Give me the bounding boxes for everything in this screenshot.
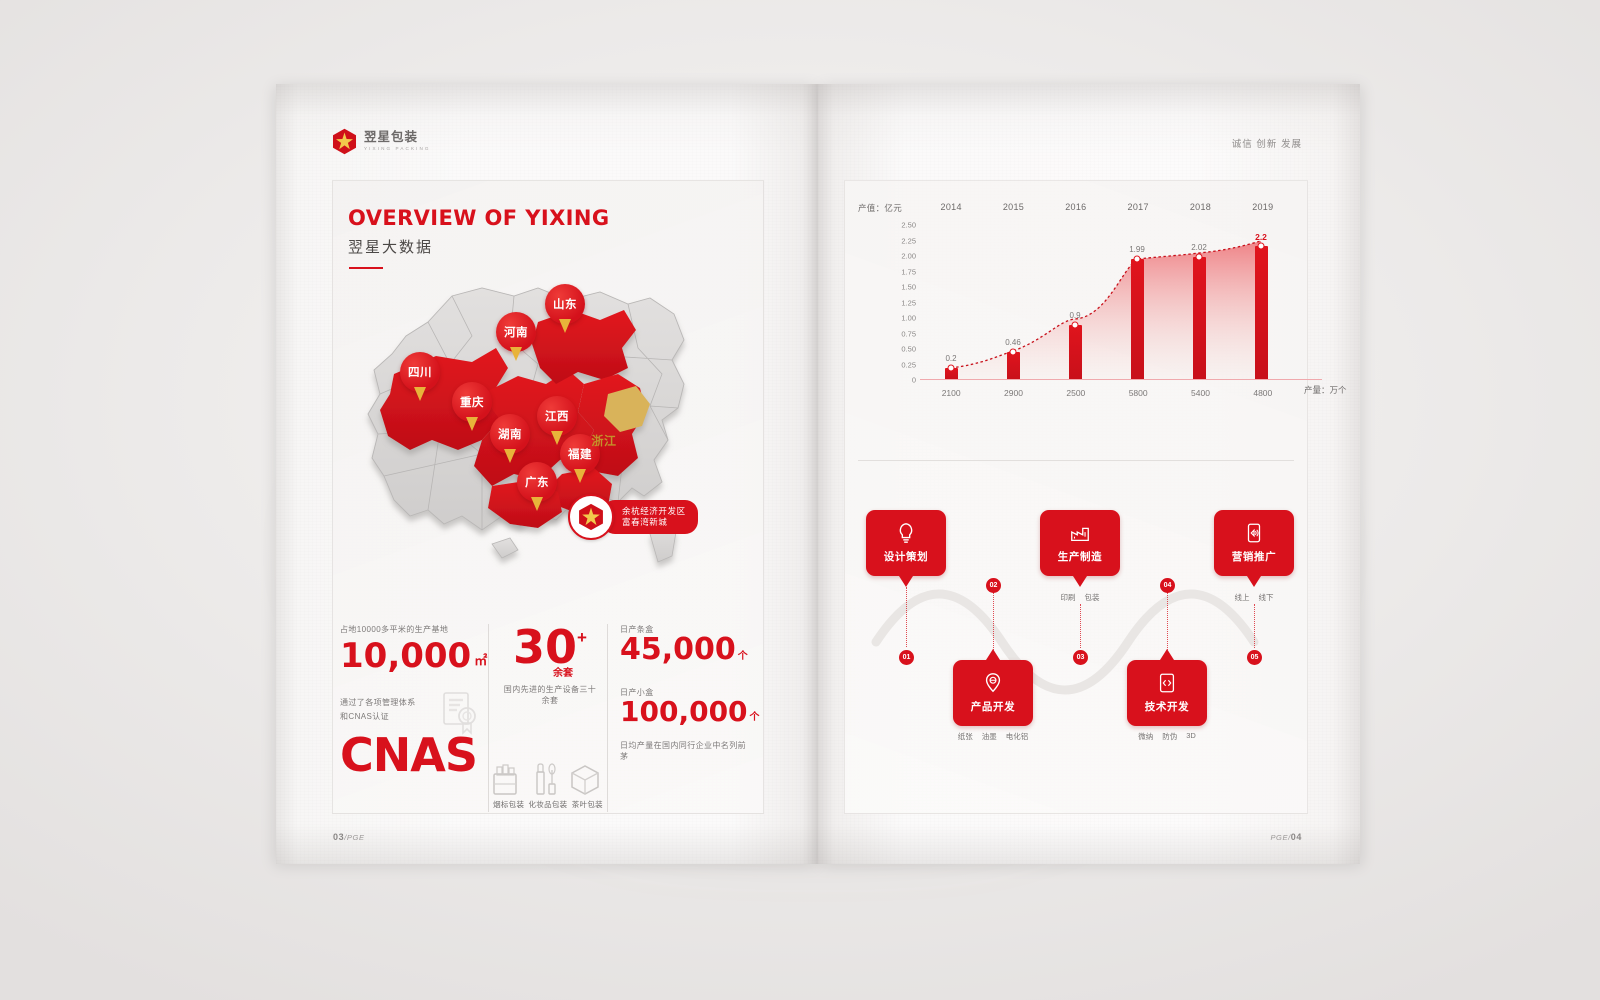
substep-label: 3D bbox=[1186, 731, 1196, 742]
map-marker-shandong[interactable]: 山东 bbox=[545, 284, 585, 333]
chart-value-label: 1.99 bbox=[1129, 245, 1145, 254]
chart-year-tick: 2015 bbox=[982, 202, 1044, 212]
process-substeps: 印刷 包装 bbox=[1040, 592, 1120, 603]
product-cosmetics: 化妆品包装 bbox=[528, 762, 567, 810]
chart-value-label-highlight: 2.2 bbox=[1255, 232, 1267, 242]
chart-bar bbox=[1193, 257, 1206, 380]
process-step-design[interactable]: 设计策划 bbox=[866, 510, 946, 576]
y-tick: 0.50 bbox=[901, 345, 916, 354]
hq-callout[interactable]: 余杭经济开发区 富春湾新城 bbox=[568, 494, 698, 540]
map-marker-label: 湖南 bbox=[490, 414, 530, 454]
page-number-value: 04 bbox=[1291, 832, 1302, 842]
chart-point bbox=[1134, 256, 1141, 263]
carton-value: 45,000 bbox=[620, 635, 736, 665]
spread: 翌星包装 YIXING PACKING OVERVIEW OF YIXING 翌… bbox=[276, 84, 1360, 864]
chart-ylabel: 产值：亿元 bbox=[858, 202, 902, 214]
target-pin-icon bbox=[982, 672, 1004, 694]
y-tick: 1.50 bbox=[901, 283, 916, 292]
product-tea-box: 茶叶包装 bbox=[568, 762, 607, 810]
y-tick: 2.50 bbox=[901, 221, 916, 230]
stat-column-area: 占地10000多平米的生产基地 10,000 ㎡ 通过了各项管理体系 和CNAS… bbox=[332, 624, 488, 812]
process-connector bbox=[1080, 604, 1081, 648]
map-marker-zhejiang[interactable]: 浙江 bbox=[584, 420, 624, 469]
map-marker-hunan[interactable]: 湖南 bbox=[490, 414, 530, 463]
output-footnote: 日均产量在国内同行企业中名列前茅 bbox=[620, 740, 754, 762]
process-pointer bbox=[986, 649, 1000, 660]
marker-pin-icon bbox=[466, 417, 478, 431]
map-marker-label: 河南 bbox=[496, 312, 536, 352]
certificate-icon bbox=[440, 691, 480, 735]
y-tick: 0.25 bbox=[901, 361, 916, 370]
process-substeps: 纸张 油墨 电化铝 bbox=[953, 731, 1033, 742]
process-badge-01: 01 bbox=[899, 650, 914, 665]
page-bottom-shading bbox=[276, 824, 818, 864]
chart-output-tick: 2100 bbox=[920, 388, 982, 398]
area-unit: ㎡ bbox=[474, 650, 487, 669]
hq-line-2: 富春湾新城 bbox=[622, 517, 686, 528]
process-step-title: 营销推广 bbox=[1232, 549, 1276, 564]
chart-area-fill bbox=[951, 241, 1261, 380]
process-connector bbox=[906, 587, 907, 647]
chart-year-tick: 2017 bbox=[1107, 202, 1169, 212]
page-number-value: 03 bbox=[333, 832, 344, 842]
y-tick: 1.00 bbox=[901, 314, 916, 323]
marker-pin-icon bbox=[531, 497, 543, 511]
map-marker-label: 重庆 bbox=[452, 382, 492, 422]
process-step-manufacturing[interactable]: 生产制造 印刷 包装 bbox=[1040, 510, 1120, 603]
hq-callout-text: 余杭经济开发区 富春湾新城 bbox=[602, 500, 698, 535]
chart-year-row: 2014 2015 2016 2017 2018 2019 bbox=[920, 202, 1294, 212]
chart-bar bbox=[1007, 352, 1020, 380]
hq-line-1: 余杭经济开发区 bbox=[622, 506, 686, 517]
process-pointer bbox=[1073, 576, 1087, 587]
page-title-en: OVERVIEW OF YIXING bbox=[348, 206, 610, 230]
cnas-logo: CNAS bbox=[340, 732, 480, 778]
chart-y-axis: 0 0.25 0.50 0.75 1.00 1.25 1.50 1.75 2.0… bbox=[872, 222, 916, 380]
marker-pin-icon bbox=[574, 469, 586, 483]
chart-value-label: 0.2 bbox=[945, 354, 956, 363]
chart-value-label: 0.46 bbox=[1005, 338, 1021, 347]
box-value: 100,000 bbox=[620, 698, 748, 726]
map-marker-guangdong[interactable]: 广东 bbox=[517, 462, 557, 511]
equipment-caption: 国内先进的生产设备三十余套 bbox=[501, 684, 599, 706]
y-tick: 0.75 bbox=[901, 330, 916, 339]
chart-year-tick: 2018 bbox=[1169, 202, 1231, 212]
process-connector bbox=[993, 592, 994, 650]
chart-point bbox=[948, 365, 955, 372]
brand-name-en: YIXING PACKING bbox=[364, 147, 431, 152]
brand-text: 翌星包装 YIXING PACKING bbox=[364, 131, 431, 151]
chart-point bbox=[1196, 254, 1203, 261]
y-tick: 2.00 bbox=[901, 252, 916, 261]
map-marker-label: 浙江 bbox=[584, 420, 624, 460]
process-badge-05: 05 bbox=[1247, 650, 1262, 665]
chart-output-tick: 2500 bbox=[1045, 388, 1107, 398]
chart-output-tick: 5800 bbox=[1107, 388, 1169, 398]
substep-label: 线下 bbox=[1259, 592, 1274, 603]
product-label: 烟标包装 bbox=[489, 799, 528, 810]
substep-label: 线上 bbox=[1235, 592, 1250, 603]
chart-x-axis: 2100 2900 2500 5800 5400 4800 bbox=[920, 388, 1294, 398]
y-tick: 1.25 bbox=[901, 299, 916, 308]
revenue-output-chart: 产值：亿元 2014 2015 2016 2017 2018 2019 0 0.… bbox=[858, 202, 1294, 418]
equipment-plus: + bbox=[577, 628, 587, 648]
map-marker-label: 江西 bbox=[537, 396, 577, 436]
process-card: 产品开发 bbox=[953, 660, 1033, 726]
brand-logo: 翌星包装 YIXING PACKING bbox=[332, 128, 431, 155]
stat-column-output: 日产条盒 45,000 个 日产小盒 100,000 个 日均产量在国内同行企业… bbox=[607, 624, 762, 812]
chart-output-tick: 5400 bbox=[1169, 388, 1231, 398]
y-tick: 2.25 bbox=[901, 237, 916, 246]
china-map: 四川 重庆 河南 山东 湖南 bbox=[332, 244, 762, 614]
substep-label: 纸张 bbox=[958, 731, 973, 742]
process-badge-02: 02 bbox=[986, 578, 1001, 593]
chart-year-tick: 2014 bbox=[920, 202, 982, 212]
marker-pin-icon bbox=[414, 387, 426, 401]
map-marker-chongqing[interactable]: 重庆 bbox=[452, 382, 492, 431]
map-marker-sichuan[interactable]: 四川 bbox=[400, 352, 440, 401]
chart-bar bbox=[1131, 259, 1144, 380]
y-tick: 0 bbox=[912, 376, 916, 385]
brand-slogan: 诚信 创新 发展 bbox=[1232, 136, 1302, 150]
factory-icon bbox=[1069, 522, 1091, 544]
process-pointer bbox=[899, 576, 913, 587]
y-tick: 1.75 bbox=[901, 268, 916, 277]
process-pointer bbox=[1247, 576, 1261, 587]
chart-point bbox=[1258, 243, 1265, 250]
chart-value-label: 0.9 bbox=[1069, 311, 1080, 320]
chart-output-tick: 2900 bbox=[982, 388, 1044, 398]
chart-baseline bbox=[920, 379, 1322, 380]
substep-label: 微纳 bbox=[1138, 731, 1153, 742]
tea-box-icon bbox=[568, 762, 602, 796]
chart-value-label: 2.02 bbox=[1191, 243, 1207, 252]
map-marker-label: 四川 bbox=[400, 352, 440, 392]
process-connector bbox=[1254, 604, 1255, 648]
chart-bar bbox=[1255, 246, 1268, 380]
lightbulb-icon bbox=[895, 522, 917, 544]
marker-pin-icon bbox=[510, 347, 522, 361]
map-marker-label: 山东 bbox=[545, 284, 585, 324]
process-card: 生产制造 bbox=[1040, 510, 1120, 576]
stats-strip: 占地10000多平米的生产基地 10,000 ㎡ 通过了各项管理体系 和CNAS… bbox=[332, 624, 762, 812]
product-label: 化妆品包装 bbox=[528, 799, 567, 810]
process-connector bbox=[1167, 592, 1168, 650]
right-page: 诚信 创新 发展 产值：亿元 2014 2015 2016 2017 2018 … bbox=[818, 84, 1360, 864]
code-document-icon bbox=[1156, 672, 1178, 694]
process-step-tech-dev[interactable]: 技术开发 微纳 防伪 3D bbox=[1127, 660, 1207, 742]
yixing-hexagon-star-icon bbox=[332, 128, 357, 155]
lipstick-icon bbox=[528, 762, 560, 796]
process-step-title: 生产制造 bbox=[1058, 549, 1102, 564]
substep-label: 印刷 bbox=[1061, 592, 1076, 603]
chart-output-tick: 4800 bbox=[1232, 388, 1294, 398]
process-substeps: 微纳 防伪 3D bbox=[1127, 731, 1207, 742]
process-step-title: 技术开发 bbox=[1145, 699, 1189, 714]
page-number-right: PGE/04 bbox=[1270, 832, 1302, 842]
page-number-left: 03/PGE bbox=[333, 832, 365, 842]
process-step-title: 产品开发 bbox=[971, 699, 1015, 714]
left-page: 翌星包装 YIXING PACKING OVERVIEW OF YIXING 翌… bbox=[276, 84, 818, 864]
box-unit: 个 bbox=[750, 708, 760, 723]
page-number-suffix: /PGE bbox=[344, 833, 364, 842]
section-divider bbox=[858, 460, 1294, 461]
page-bottom-shading bbox=[818, 824, 1360, 864]
area-value: 10,000 bbox=[340, 639, 471, 673]
product-icon-row: 烟标包装 化妆品包装 bbox=[489, 762, 607, 810]
process-card: 设计策划 bbox=[866, 510, 946, 576]
chart-xlabel: 产量：万个 bbox=[1304, 384, 1347, 396]
marker-pin-icon bbox=[504, 449, 516, 463]
cigarette-pack-icon bbox=[489, 762, 521, 796]
chart-point bbox=[1072, 322, 1079, 329]
page-number-prefix: PGE/ bbox=[1270, 833, 1290, 842]
stat-column-equipment: 30 + 余套 国内先进的生产设备三十余套 bbox=[488, 624, 607, 812]
process-badge-03: 03 bbox=[1073, 650, 1088, 665]
map-marker-henan[interactable]: 河南 bbox=[496, 312, 536, 361]
chart-year-tick: 2019 bbox=[1232, 202, 1294, 212]
process-step-product-dev[interactable]: 产品开发 纸张 油墨 电化铝 bbox=[953, 660, 1033, 742]
area-caption: 占地10000多平米的生产基地 bbox=[340, 624, 480, 635]
substep-label: 包装 bbox=[1085, 592, 1100, 603]
chart-year-tick: 2016 bbox=[1045, 202, 1107, 212]
process-pointer bbox=[1160, 649, 1174, 660]
chart-bar bbox=[1069, 325, 1082, 380]
substep-label: 防伪 bbox=[1162, 731, 1177, 742]
mobile-megaphone-icon bbox=[1243, 522, 1265, 544]
substep-label: 油墨 bbox=[982, 731, 997, 742]
substep-label: 电化铝 bbox=[1006, 731, 1029, 742]
carton-unit: 个 bbox=[738, 647, 748, 662]
hq-logo-icon bbox=[568, 494, 614, 540]
marker-pin-icon bbox=[559, 319, 571, 333]
product-label: 茶叶包装 bbox=[568, 799, 607, 810]
process-badge-04: 04 bbox=[1160, 578, 1175, 593]
process-substeps: 线上 线下 bbox=[1214, 592, 1294, 603]
process-flow: 设计策划 01 产品开发 bbox=[858, 492, 1294, 792]
process-card: 营销推广 bbox=[1214, 510, 1294, 576]
brand-name-cn: 翌星包装 bbox=[364, 131, 431, 144]
chart-point bbox=[1010, 349, 1017, 356]
product-cigarette-pack: 烟标包装 bbox=[489, 762, 528, 810]
process-card: 技术开发 bbox=[1127, 660, 1207, 726]
process-step-marketing[interactable]: 营销推广 线上 线下 bbox=[1214, 510, 1294, 603]
magazine-spread-photo: 翌星包装 YIXING PACKING OVERVIEW OF YIXING 翌… bbox=[0, 0, 1600, 1000]
map-marker-label: 广东 bbox=[517, 462, 557, 502]
chart-plot-area: 0.2 0.46 0.9 1.99 2.02 2.2 bbox=[920, 228, 1294, 380]
process-step-title: 设计策划 bbox=[884, 549, 928, 564]
